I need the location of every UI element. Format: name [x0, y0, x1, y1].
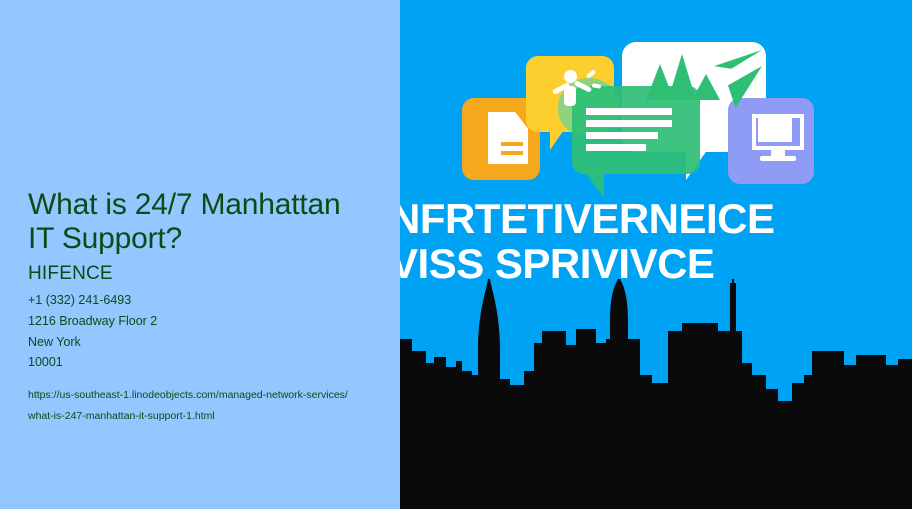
company-address-street: 1216 Broadway Floor 2	[28, 311, 386, 332]
monitor-icon	[752, 114, 806, 164]
icon-cluster	[400, 0, 912, 200]
monitor-display-area	[758, 118, 792, 142]
source-url-line-2[interactable]: what-is-247-manhattan-it-support-1.html	[28, 406, 386, 427]
paper-plane-body	[728, 66, 762, 108]
document-icon	[488, 112, 528, 164]
city-skyline-silhouette	[400, 279, 912, 509]
celebration-spark-1	[586, 69, 596, 78]
company-address-zip: 10001	[28, 352, 386, 373]
text-lines-icon	[586, 108, 672, 150]
source-url-block[interactable]: https://us-southeast-1.linodeobjects.com…	[28, 385, 386, 427]
source-url-line-1[interactable]: https://us-southeast-1.linodeobjects.com…	[28, 385, 386, 406]
right-graphic-panel: NFRTETIVERNEICE VISS SPRIVIVCE	[400, 0, 912, 509]
text-line-2	[586, 120, 672, 127]
celebration-arm-right	[574, 80, 592, 92]
page-title: What is 24/7 Manhattan IT Support?	[28, 188, 386, 255]
text-line-3	[586, 132, 658, 139]
celebration-body	[564, 86, 576, 106]
company-address-city: New York	[28, 332, 386, 353]
bar-chart-icon	[646, 54, 718, 100]
document-page	[488, 112, 528, 164]
left-info-panel: What is 24/7 Manhattan IT Support? HIFEN…	[0, 0, 400, 509]
text-line-4	[586, 144, 646, 151]
document-text-line-1	[501, 142, 523, 146]
company-phone[interactable]: +1 (332) 241-6493	[28, 290, 386, 311]
document-text-line-2	[501, 151, 523, 155]
poster-canvas: What is 24/7 Manhattan IT Support? HIFEN…	[0, 0, 912, 512]
celebration-spark-2	[592, 83, 602, 89]
left-content-block: What is 24/7 Manhattan IT Support? HIFEN…	[28, 188, 386, 427]
paper-plane-icon	[710, 50, 766, 108]
overlay-headline: NFRTETIVERNEICE VISS SPRIVIVCE	[400, 196, 912, 287]
monitor-base	[760, 156, 796, 161]
text-line-1	[586, 108, 672, 115]
list-bubble-tail	[582, 168, 604, 198]
company-name: HIFENCE	[28, 263, 386, 285]
overlay-headline-line-1: NFRTETIVERNEICE	[400, 196, 912, 241]
